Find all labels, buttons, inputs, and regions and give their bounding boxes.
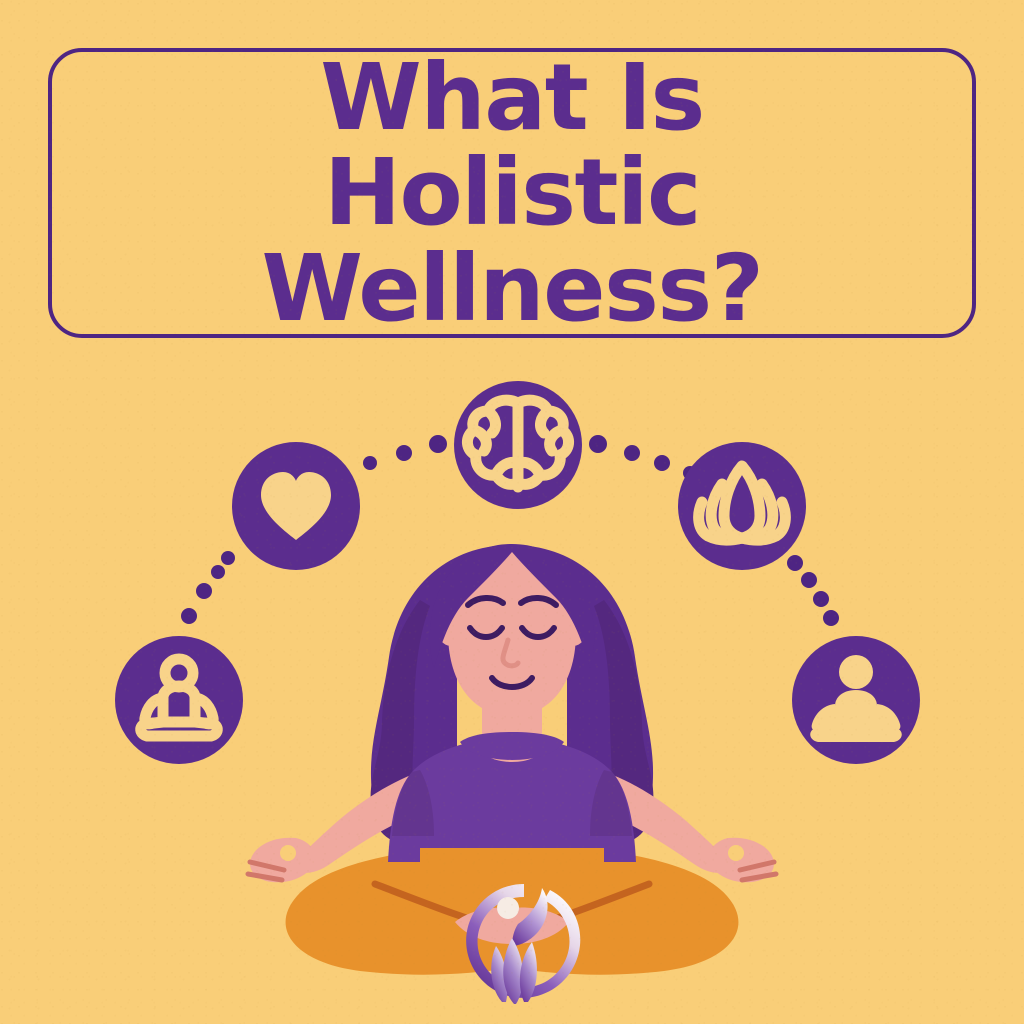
connector-dots-lotus-to-meditation-right — [787, 555, 839, 626]
right-hand-mudra — [709, 838, 776, 883]
connector-dots-heart-to-brain — [363, 435, 447, 470]
pillar-badge-social — [792, 636, 920, 764]
connector-dots-brain-to-lotus — [589, 435, 697, 480]
logo-figure-head — [497, 897, 519, 919]
illustration-scene — [0, 0, 1024, 1024]
brain-icon — [467, 400, 568, 487]
left-hand-mudra — [248, 838, 315, 883]
pillar-badge-emotional — [232, 442, 360, 570]
pillar-badge-physical — [115, 636, 243, 764]
pillar-badge-mental — [454, 381, 582, 509]
poster-canvas: What Is Holistic Wellness? — [0, 0, 1024, 1024]
wellness-brand-logo — [432, 876, 596, 1024]
pillar-badge-spiritual — [678, 442, 806, 570]
connector-dots-meditation-left-to-heart — [181, 551, 235, 624]
